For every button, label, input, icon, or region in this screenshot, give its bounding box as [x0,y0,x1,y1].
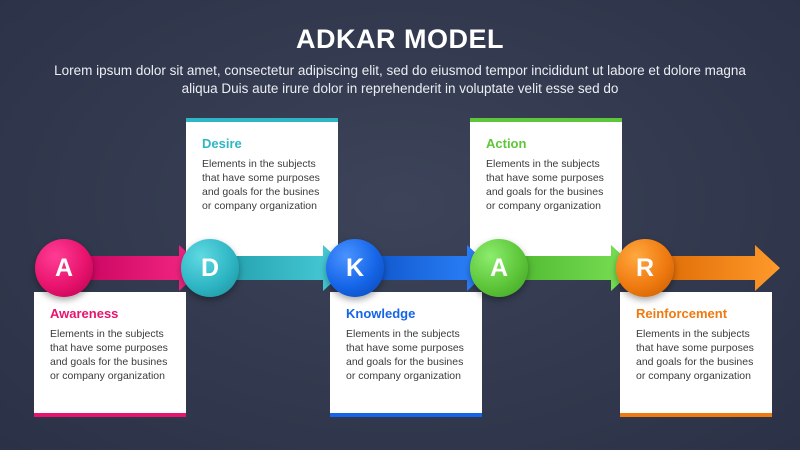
card-awareness-body: Elements in the subjects that have some … [50,327,170,383]
card-desire-inner: Desire Elements in the subjects that hav… [186,122,338,225]
card-knowledge[interactable]: Knowledge Elements in the subjects that … [330,292,482,417]
card-awareness-inner: Awareness Elements in the subjects that … [34,292,186,395]
step-circle-reinforcement[interactable]: R [616,239,674,297]
card-reinforcement[interactable]: Reinforcement Elements in the subjects t… [620,292,772,417]
step-circle-awareness[interactable]: A [35,239,93,297]
step-circle-desire[interactable]: D [181,239,239,297]
card-action-inner: Action Elements in the subjects that hav… [470,122,622,225]
step-circle-desire-letter: D [201,254,219,283]
card-awareness[interactable]: Awareness Elements in the subjects that … [34,292,186,417]
card-reinforcement-title: Reinforcement [636,306,756,321]
card-knowledge-inner: Knowledge Elements in the subjects that … [330,292,482,395]
step-circle-knowledge-letter: K [346,254,364,283]
card-desire-title: Desire [202,136,322,151]
card-reinforcement-body: Elements in the subjects that have some … [636,327,756,383]
step-circle-knowledge[interactable]: K [326,239,384,297]
infographic-stage: ADKAR MODEL Lorem ipsum dolor sit amet, … [0,0,800,450]
card-action-title: Action [486,136,606,151]
step-circle-action[interactable]: A [470,239,528,297]
card-awareness-title: Awareness [50,306,170,321]
page-subtitle: Lorem ipsum dolor sit amet, consectetur … [36,62,764,98]
card-knowledge-body: Elements in the subjects that have some … [346,327,466,383]
step-circle-reinforcement-letter: R [636,254,654,283]
step-circle-awareness-letter: A [55,254,73,283]
card-reinforcement-inner: Reinforcement Elements in the subjects t… [620,292,772,395]
card-action-body: Elements in the subjects that have some … [486,157,606,213]
step-circle-action-letter: A [490,254,508,283]
page-title: ADKAR MODEL [0,24,800,55]
card-knowledge-title: Knowledge [346,306,466,321]
card-desire-body: Elements in the subjects that have some … [202,157,322,213]
